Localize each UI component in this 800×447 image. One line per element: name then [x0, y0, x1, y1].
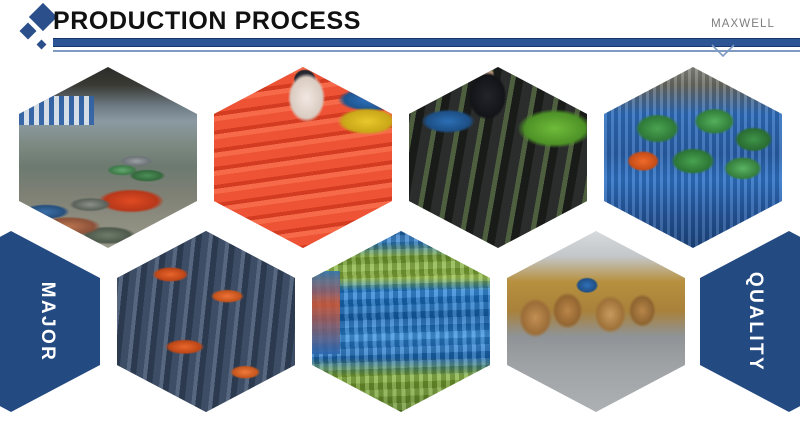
diamond-medium-icon: [20, 23, 37, 40]
header-rule-thin: [53, 50, 800, 52]
process-image-tile-5: [117, 231, 295, 412]
page-title: PRODUCTION PROCESS: [53, 6, 361, 36]
process-image-tile-7: [507, 231, 685, 412]
production-process-banner: PRODUCTION PROCESS MAXWELL MAJOR QUALI: [0, 0, 800, 447]
badge-major-label: MAJOR: [36, 281, 58, 362]
photo-green-cover-packing: [409, 67, 587, 248]
header-rule-bar: [53, 38, 800, 47]
badge-quality-label: QUALITY: [744, 271, 766, 371]
brand-name: MAXWELL: [711, 18, 775, 30]
badge-major: MAJOR: [0, 231, 100, 412]
process-image-tile-3: [409, 67, 587, 248]
process-image-tile-1: [19, 67, 197, 248]
photo-carton-warehouse: [507, 231, 685, 412]
photo-green-bundles-blue-crates: [604, 67, 782, 248]
process-image-tile-6: [312, 231, 490, 412]
photo-stacked-padded-covers: [117, 231, 295, 412]
photo-fabric-roll-warehouse: [19, 67, 197, 248]
process-image-tile-2: [214, 67, 392, 248]
header: PRODUCTION PROCESS MAXWELL: [0, 0, 800, 58]
process-image-tile-4: [604, 67, 782, 248]
diamond-small-icon: [37, 40, 47, 50]
photo-red-tarpaulin-folding: [214, 67, 392, 248]
chevron-down-icon: [711, 44, 735, 57]
photo-blue-green-woven-sheets: [312, 231, 490, 412]
badge-quality: QUALITY: [700, 231, 800, 412]
